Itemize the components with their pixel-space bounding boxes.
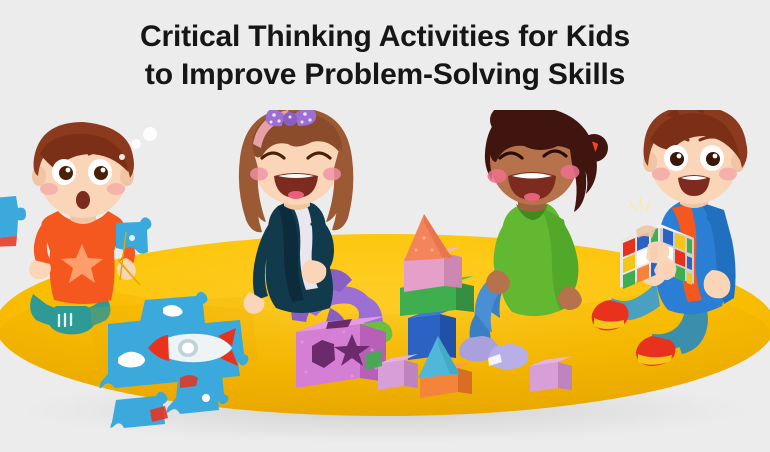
girl2-hair-bow: [266, 110, 316, 126]
puzzle-piece-left-edge: [0, 196, 26, 247]
bubble-2: [131, 139, 141, 149]
sparkle-icon: [630, 198, 650, 211]
girl2-blush-right: [323, 168, 341, 181]
boy1-mouth: [76, 191, 90, 209]
illustration-card: Critical Thinking Activities for Kids to…: [0, 0, 770, 452]
girl3-blush-right: [561, 165, 580, 179]
page-title: Critical Thinking Activities for Kids to…: [0, 18, 770, 95]
boy1-blush-left: [40, 183, 58, 195]
girl3-blush-left: [488, 169, 507, 183]
page-title-line-2: to Improve Problem-Solving Skills: [0, 56, 770, 94]
kids-illustration: [0, 110, 770, 452]
girl2-blush-left: [250, 168, 268, 181]
bubble-3: [143, 127, 157, 141]
boy4-blush-right: [719, 168, 737, 181]
bubble-1: [119, 154, 125, 160]
boy1-blush-right: [107, 183, 125, 195]
boy1-shoe: [49, 306, 96, 334]
page-title-line-1: Critical Thinking Activities for Kids: [0, 18, 770, 56]
boy4-blush-left: [652, 168, 670, 181]
